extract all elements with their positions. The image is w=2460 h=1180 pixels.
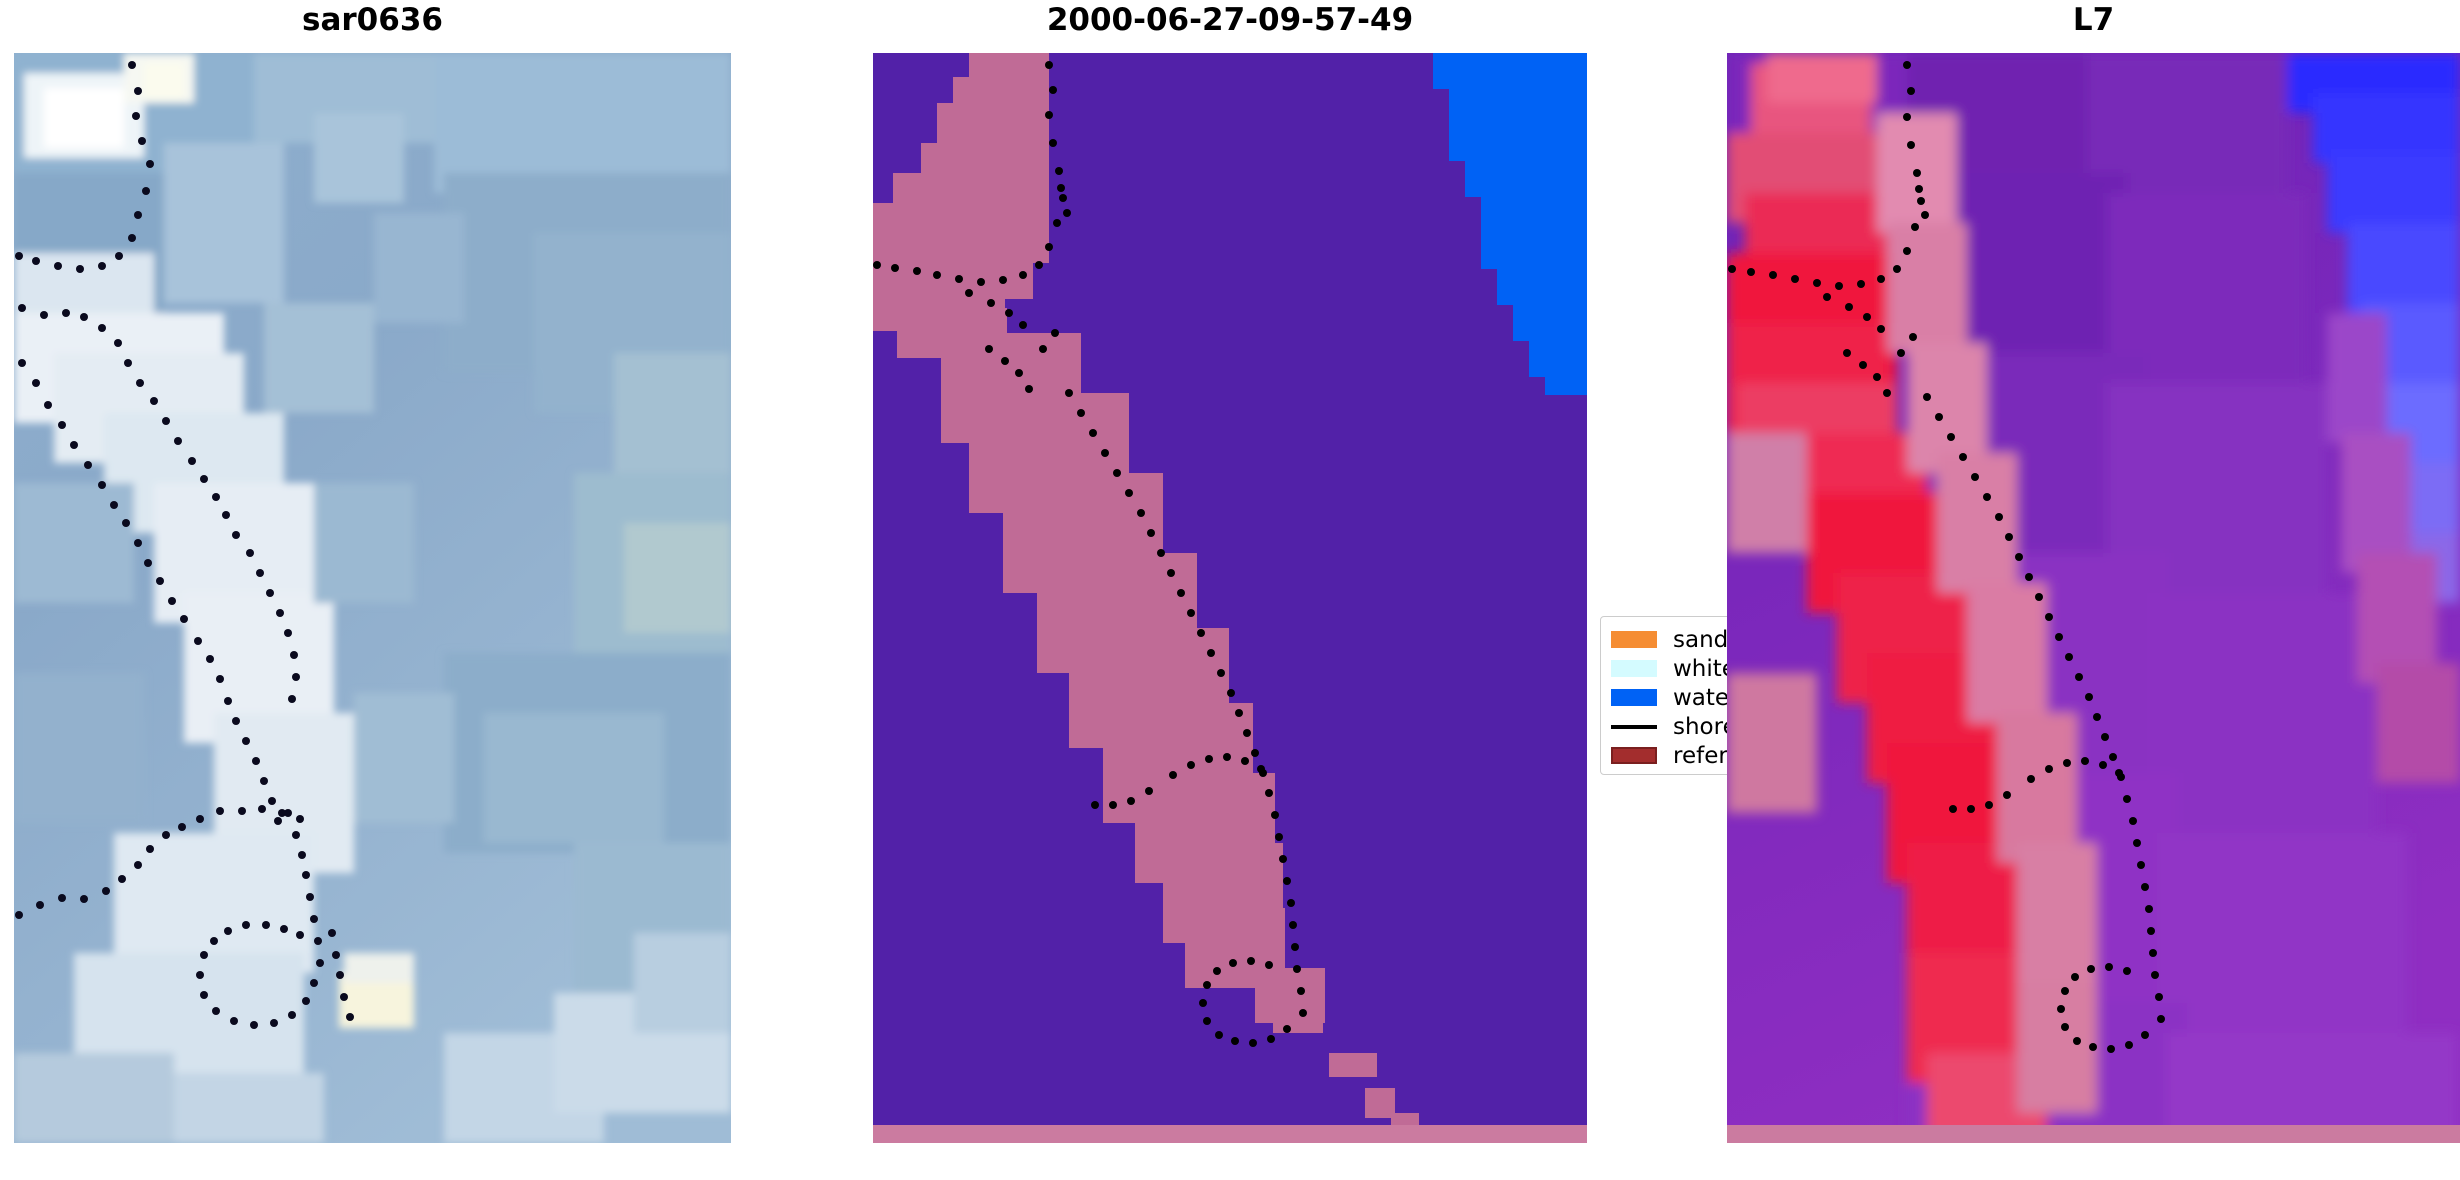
panel-l7-image[interactable] [1727,53,2460,1143]
classified-raster [873,53,1587,1143]
l7-bottom-band [1727,1125,2460,1143]
whitewater-swatch-icon [1611,660,1657,677]
legend-label-sand: sand [1673,627,1728,653]
sar-raster [14,53,731,1143]
panel-title-l7: L7 [1727,2,2460,38]
panel-title-classified: 2000-06-27-09-57-49 [873,2,1587,38]
water-swatch-icon [1611,689,1657,706]
figure-canvas: sar0636 2000-06-27-09-57-49 L7 [0,0,2460,1180]
class-bottom-band [873,1125,1587,1143]
panel-sar-image[interactable] [14,53,731,1143]
panel-title-sar: sar0636 [14,2,731,38]
l7-raster [1727,53,2460,1143]
shoreline-line-icon [1611,725,1657,729]
panel-classified-image[interactable] [873,53,1587,1143]
sand-swatch-icon [1611,631,1657,648]
reference-swatch-icon [1611,747,1657,764]
